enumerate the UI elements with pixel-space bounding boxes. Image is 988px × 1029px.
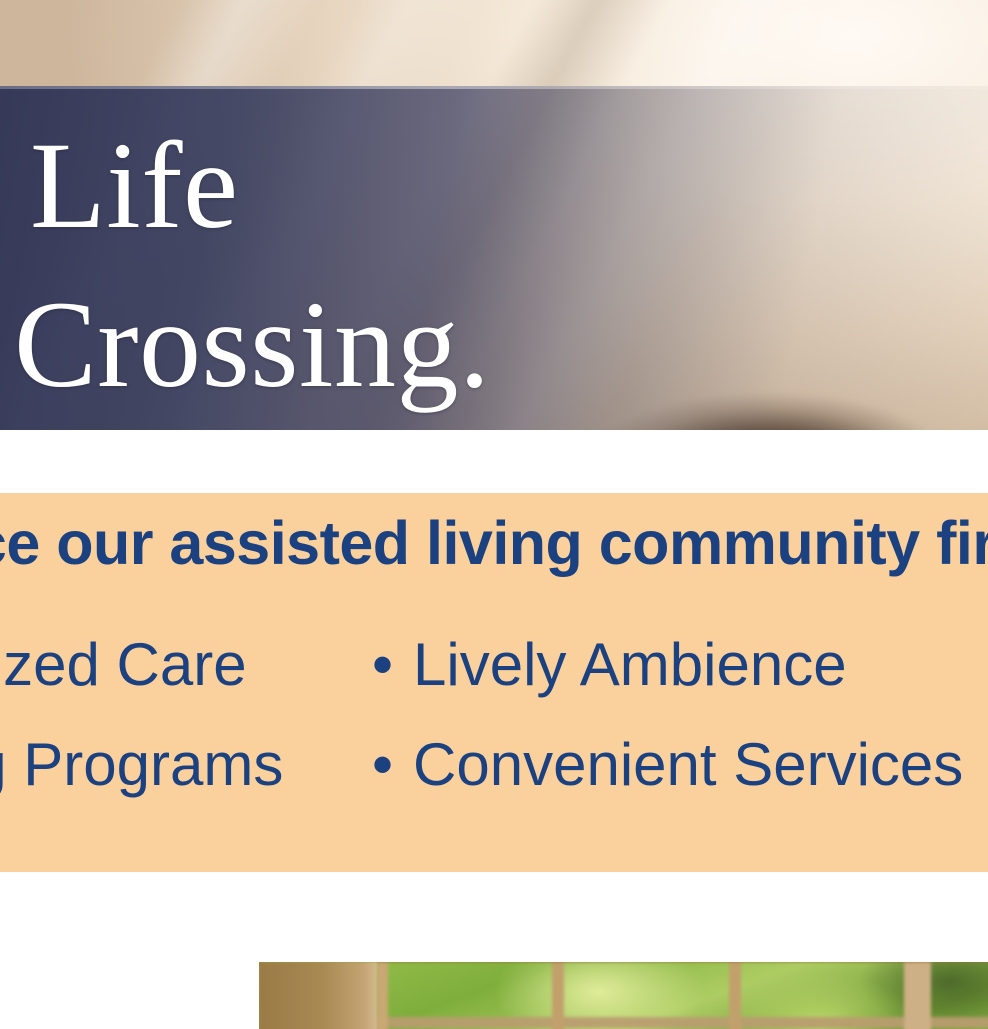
feature-label: Engaging Programs xyxy=(0,735,283,795)
list-item: • Lively Ambience xyxy=(372,635,988,735)
page-title: Life Crossing. xyxy=(0,107,700,424)
feature-column-left: • Personalized Care • Engaging Programs xyxy=(0,635,372,835)
page-canvas: Life Crossing. experience our assisted l… xyxy=(0,0,988,1029)
window-photo-jamb xyxy=(259,962,377,1029)
spacer-above-callout xyxy=(0,434,988,494)
callout-headline: experience our assisted living community… xyxy=(0,513,988,574)
bullet-dot-icon: • xyxy=(372,635,393,695)
feature-label: Personalized Care xyxy=(0,635,247,695)
list-item: • Personalized Care xyxy=(0,635,372,735)
bullet-dot-icon: • xyxy=(372,735,393,795)
feature-column-right: • Lively Ambience • Convenient Services xyxy=(372,635,988,835)
hero-title-line-1: Life xyxy=(0,107,700,266)
spacer-below-callout xyxy=(0,872,988,947)
feature-label: Convenient Services xyxy=(413,735,963,795)
callout-panel: experience our assisted living community… xyxy=(0,493,988,873)
hero-title-line-2: Crossing. xyxy=(0,266,700,425)
list-item: • Convenient Services xyxy=(372,735,988,835)
window-photo xyxy=(259,962,988,1029)
feature-label: Lively Ambience xyxy=(413,635,847,695)
hero-section: Life Crossing. xyxy=(0,0,988,434)
callout-feature-columns: • Personalized Care • Engaging Programs … xyxy=(0,635,988,835)
list-item: • Engaging Programs xyxy=(0,735,372,835)
